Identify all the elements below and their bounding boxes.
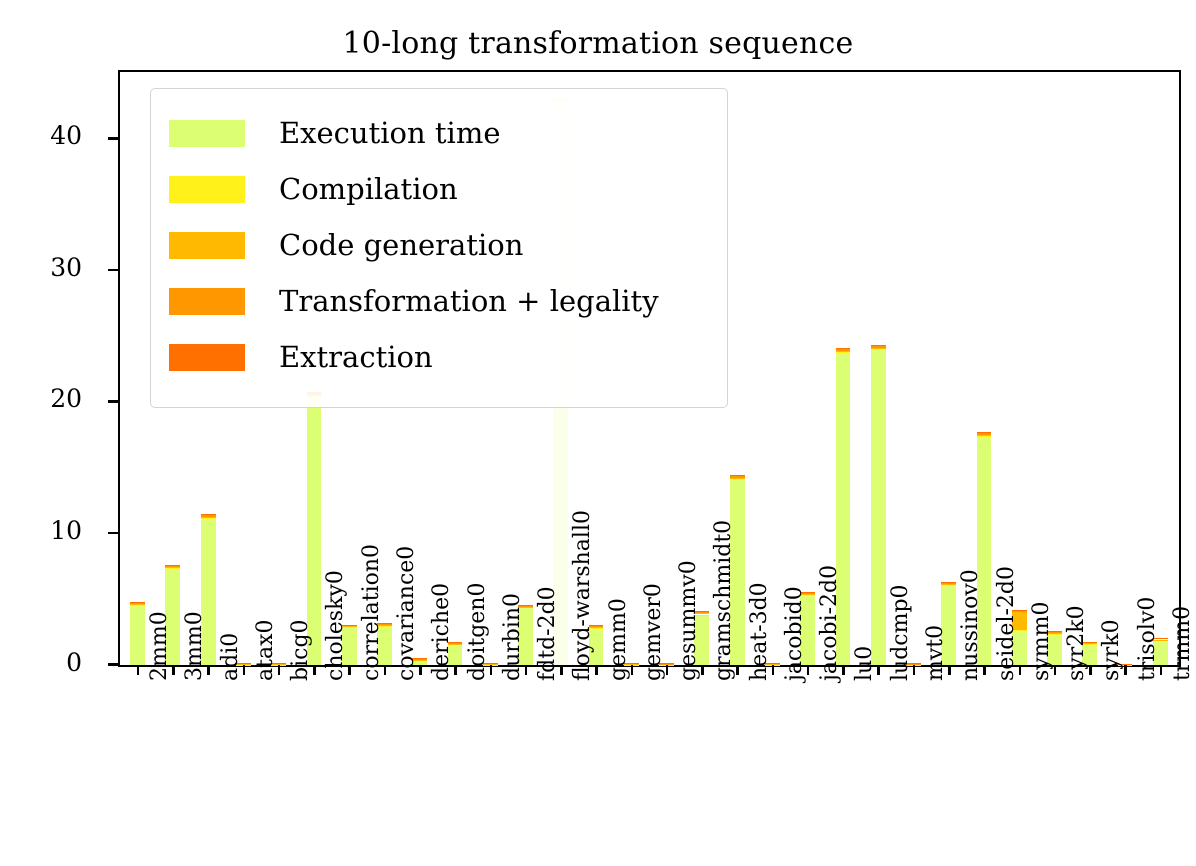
- bar-mvt0[interactable]: [906, 73, 921, 665]
- y-axis-tick: [108, 137, 120, 140]
- chart-figure: 10-long transformation sequence Runtime …: [0, 0, 1196, 866]
- x-axis-tick: [807, 665, 810, 675]
- x-axis-tick-label-symm0: symm0: [1029, 602, 1054, 681]
- x-axis-tick-label-floyd-warshall0: floyd-warshall0: [570, 510, 595, 681]
- y-axis-tick: [108, 269, 120, 272]
- legend-item-extraction[interactable]: Extraction: [169, 329, 709, 385]
- x-axis-tick-label-deriche0: deriche0: [429, 583, 454, 681]
- bar-segment-transformation-legality: [941, 582, 956, 584]
- legend-item-execution-time[interactable]: Execution time: [169, 105, 709, 161]
- legend-item-code-generation[interactable]: Code generation: [169, 217, 709, 273]
- y-axis-tick: [108, 400, 120, 403]
- bar-syrk0[interactable]: [1082, 73, 1097, 665]
- legend-label: Code generation: [279, 231, 523, 260]
- x-axis-tick: [666, 665, 669, 675]
- x-axis-tick-label-gesummv0: gesummv0: [676, 560, 701, 681]
- x-axis-tick-label-correlation0: correlation0: [359, 544, 384, 681]
- x-axis-tick-label-adi0: adi0: [218, 633, 243, 681]
- x-axis-tick: [595, 665, 598, 675]
- bar-segment-transformation-legality: [730, 475, 745, 477]
- legend-item-compilation[interactable]: Compilation: [169, 161, 709, 217]
- legend-swatch-icon: [169, 288, 245, 315]
- bar-trisolv0[interactable]: [1118, 73, 1133, 665]
- x-axis-tick-label-heat-3d0: heat-3d0: [747, 582, 772, 681]
- chart-legend: Execution timeCompilationCode generation…: [150, 88, 728, 408]
- x-axis-tick-label-syrk0: syrk0: [1099, 619, 1124, 681]
- bar-ludcmp0[interactable]: [871, 73, 886, 665]
- bar-segment-compilation: [871, 349, 886, 350]
- x-axis-tick-label-mvt0: mvt0: [923, 625, 948, 681]
- bar-syr2k0[interactable]: [1047, 73, 1062, 665]
- x-axis-tick-label-covariance0: covariance0: [394, 546, 419, 681]
- x-axis-tick: [1054, 665, 1057, 675]
- x-axis-tick: [172, 665, 175, 675]
- y-axis-tick-label: 0: [66, 648, 82, 677]
- bar-segment-code-generation: [165, 567, 180, 568]
- bar-nussinov0[interactable]: [941, 73, 956, 665]
- legend-label: Compilation: [279, 175, 458, 204]
- y-axis-tick-label: 40: [50, 121, 82, 150]
- bar-segment-compilation: [977, 436, 992, 437]
- x-axis-tick-label-trisolv0: trisolv0: [1135, 597, 1160, 681]
- legend-swatch-icon: [169, 344, 245, 371]
- x-axis-tick: [736, 665, 739, 675]
- x-axis-tick-label-seidel-2d0: seidel-2d0: [994, 566, 1019, 681]
- bar-segment-code-generation: [130, 604, 145, 605]
- x-axis-tick: [348, 665, 351, 675]
- bar-jacobi-2d0[interactable]: [800, 73, 815, 665]
- x-axis-tick-label-jacobi-2d0: jacobi-2d0: [817, 565, 842, 681]
- x-axis-tick: [948, 665, 951, 675]
- x-axis-tick-label-syr2k0: syr2k0: [1064, 605, 1089, 681]
- x-axis-tick: [842, 665, 845, 675]
- bar-segment-code-generation: [977, 435, 992, 436]
- y-axis-tick-label: 20: [50, 384, 82, 413]
- bar-segment-code-generation: [871, 348, 886, 349]
- x-axis-tick: [490, 665, 493, 675]
- x-axis-tick: [384, 665, 387, 675]
- bar-segment-compilation: [201, 518, 216, 519]
- x-axis-tick-label-gramschmidt0: gramschmidt0: [711, 520, 736, 681]
- x-axis-tick-label-jacobid0: jacobid0: [782, 586, 807, 681]
- x-axis-tick: [701, 665, 704, 675]
- x-axis-tick: [1019, 665, 1022, 675]
- x-axis-tick: [913, 665, 916, 675]
- x-axis-tick: [243, 665, 246, 675]
- legend-swatch-icon: [169, 120, 245, 147]
- bar-segment-transformation-legality: [201, 515, 216, 517]
- x-axis-tick-label-durbin0: durbin0: [500, 593, 525, 681]
- legend-label: Transformation + legality: [279, 287, 659, 316]
- x-axis-tick: [207, 665, 210, 675]
- x-axis-tick-label-fdtd-2d0: fdtd-2d0: [535, 586, 560, 681]
- x-axis-tick-label-atax0: atax0: [253, 620, 278, 681]
- bar-segment-transformation-legality: [836, 349, 851, 351]
- x-axis-tick: [631, 665, 634, 675]
- x-axis-tick: [772, 665, 775, 675]
- bar-segment-transformation-legality: [165, 565, 180, 567]
- x-axis-tick: [560, 665, 563, 675]
- bar-2mm0[interactable]: [130, 73, 145, 665]
- bar-segment-transformation-legality: [871, 346, 886, 348]
- x-axis-tick: [877, 665, 880, 675]
- x-axis-tick: [419, 665, 422, 675]
- bar-jacobid0[interactable]: [765, 73, 780, 665]
- x-axis-tick-label-nussinov0: nussinov0: [958, 569, 983, 681]
- x-axis-tick-label-3mm0: 3mm0: [182, 611, 207, 681]
- page-title: 10-long transformation sequence: [0, 26, 1196, 61]
- x-axis-tick-label-bicg0: bicg0: [288, 619, 313, 681]
- x-axis-tick-label-ludcmp0: ludcmp0: [888, 584, 913, 681]
- bar-segment-code-generation: [730, 478, 745, 479]
- x-axis-tick-label-doitgen0: doitgen0: [465, 583, 490, 681]
- bar-segment-code-generation: [941, 584, 956, 585]
- bar-segment-code-generation: [201, 517, 216, 518]
- x-axis-tick-label-gemm0: gemm0: [606, 598, 631, 681]
- x-axis-tick-label-cholesky0: cholesky0: [323, 570, 348, 681]
- legend-swatch-icon: [169, 176, 245, 203]
- y-axis-tick-label: 30: [50, 253, 82, 282]
- bar-segment-compilation: [730, 479, 745, 480]
- bar-segment-compilation: [941, 585, 956, 586]
- legend-label: Execution time: [279, 119, 500, 148]
- bar-segment-execution-time: [871, 350, 886, 665]
- x-axis-tick: [137, 665, 140, 675]
- x-axis-tick: [313, 665, 316, 675]
- bar-segment-code-generation: [836, 351, 851, 352]
- y-axis-tick: [108, 663, 120, 666]
- bar-segment-transformation-legality: [977, 433, 992, 435]
- x-axis-tick: [983, 665, 986, 675]
- x-axis-tick: [1160, 665, 1163, 675]
- legend-item-transformation-legality[interactable]: Transformation + legality: [169, 273, 709, 329]
- bar-segment-transformation-legality: [130, 602, 145, 604]
- legend-label: Extraction: [279, 343, 433, 372]
- x-axis-tick-label-lu0: lu0: [852, 646, 877, 681]
- x-axis-tick-label-trmm0: trmm0: [1170, 606, 1195, 681]
- bar-segment-execution-time: [130, 605, 145, 665]
- plot-area: Execution timeCompilationCode generation…: [118, 70, 1181, 667]
- x-axis-tick: [1089, 665, 1092, 675]
- legend-swatch-icon: [169, 232, 245, 259]
- y-axis-tick-label: 10: [50, 516, 82, 545]
- x-axis-tick-label-2mm0: 2mm0: [147, 611, 172, 681]
- bar-segment-compilation: [836, 352, 851, 353]
- x-axis-tick: [454, 665, 457, 675]
- y-axis-tick: [108, 532, 120, 535]
- x-axis-tick: [1124, 665, 1127, 675]
- x-axis-tick-label-gemver0: gemver0: [641, 583, 666, 681]
- x-axis-tick: [525, 665, 528, 675]
- x-axis-tick: [278, 665, 281, 675]
- bar-segment-compilation: [165, 568, 180, 569]
- bar-trmm0[interactable]: [1153, 73, 1168, 665]
